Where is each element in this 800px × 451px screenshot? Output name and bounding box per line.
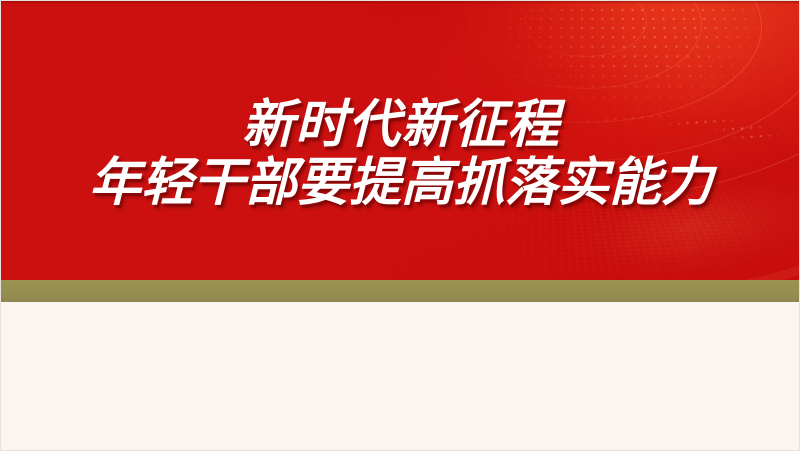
slide-footer-area: 主讲人：敬亭山 [1,302,800,451]
page-title: 新时代新征程 年轻干部要提高抓落实能力 [1,97,800,213]
hero-top-shade-line [1,1,800,4]
gold-divider-band [1,280,800,302]
title-slide: 新时代新征程 年轻干部要提高抓落实能力 主讲人：敬亭山 [0,0,800,451]
title-line-2: 年轻干部要提高抓落实能力 [1,155,800,213]
title-line-1: 新时代新征程 [1,97,800,155]
hero-banner: 新时代新征程 年轻干部要提高抓落实能力 [1,1,800,280]
